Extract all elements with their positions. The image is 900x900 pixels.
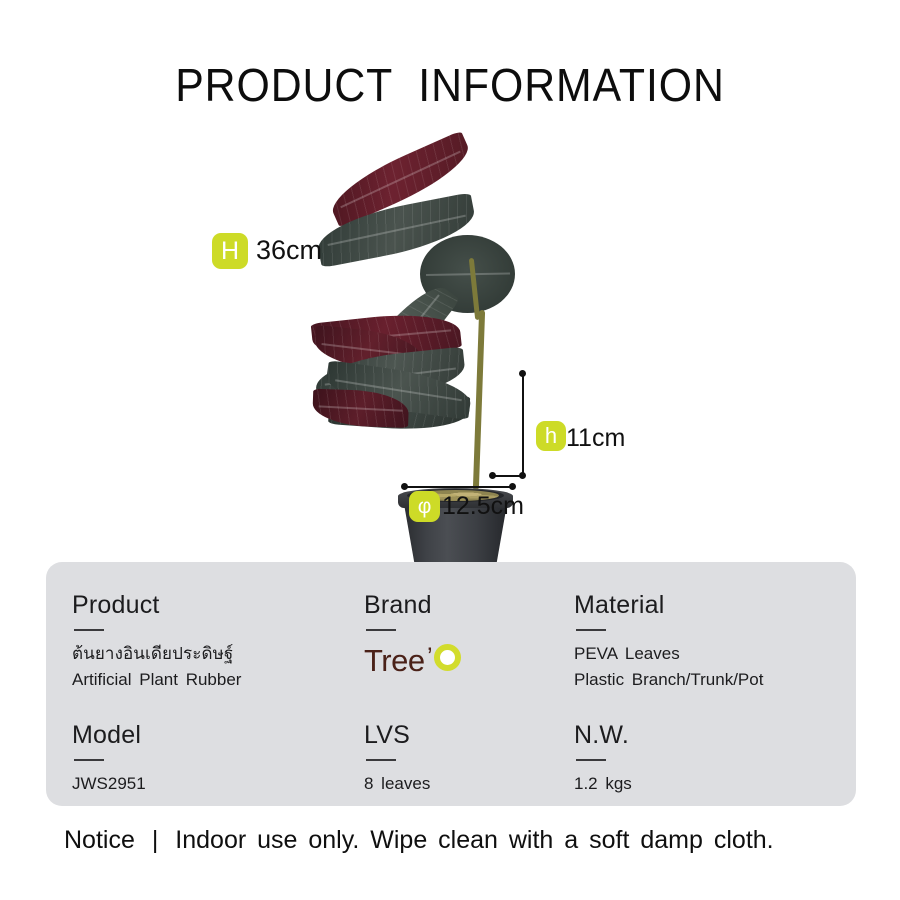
spec-nw-rule	[576, 759, 606, 762]
spec-lvs-rule	[366, 759, 396, 762]
spec-lvs-label: LVS	[364, 722, 430, 750]
pot-height-value: 11cm	[566, 424, 625, 453]
product-information-page: PRODUCT INFORMATION	[0, 0, 900, 900]
spec-product-value-en: Artificial Plant Rubber	[72, 667, 241, 693]
pot-height-dot-top	[519, 370, 526, 377]
notice-line: Notice | Indoor use only. Wipe clean wit…	[64, 826, 774, 855]
spec-material-line2: Plastic Branch/Trunk/Pot	[574, 667, 763, 693]
pot-height-tick-bottom	[492, 475, 520, 477]
height-value: 36cm	[256, 235, 322, 266]
brand-logo-text: Tree	[364, 643, 425, 679]
pot-height-dot-bottom	[519, 472, 526, 479]
notice-label: Notice	[64, 826, 135, 854]
spec-material-label: Material	[574, 592, 763, 620]
spec-lvs-value: 8 leaves	[364, 771, 430, 797]
pot-bottom-edge-dot	[489, 472, 496, 479]
spec-model-rule	[74, 759, 104, 762]
spec-model-label: Model	[72, 722, 146, 750]
pot-diameter-value: 12.5cm	[442, 492, 524, 521]
page-title: PRODUCT INFORMATION	[32, 58, 869, 112]
spec-nw: N.W. 1.2 kgs	[574, 722, 632, 797]
spec-brand: Brand Tree ’	[364, 592, 514, 681]
spec-product-value-thai: ต้นยางอินเดียประดิษฐ์	[72, 641, 241, 667]
spec-model: Model JWS2951	[72, 722, 146, 797]
spec-material-line1: PEVA Leaves	[574, 641, 763, 667]
notice-separator: |	[146, 826, 165, 854]
height-badge: H	[212, 233, 248, 269]
pot-height-dimension-line	[522, 373, 524, 476]
spec-material: Material PEVA Leaves Plastic Branch/Trun…	[574, 592, 763, 694]
product-photo	[0, 120, 900, 540]
spec-product-label: Product	[72, 592, 241, 620]
spec-brand-rule	[366, 629, 396, 632]
spec-brand-label: Brand	[364, 592, 514, 620]
brand-logo-o-icon	[434, 644, 461, 671]
spec-material-rule	[576, 629, 606, 632]
spec-nw-label: N.W.	[574, 722, 632, 750]
brand-logo-apostrophe: ’	[427, 643, 433, 672]
spec-product-rule	[74, 629, 104, 632]
pot-diameter-badge: φ	[409, 491, 440, 522]
stem-main	[473, 310, 485, 490]
spec-model-value: JWS2951	[72, 771, 146, 797]
notice-text: Indoor use only. Wipe clean with a soft …	[175, 826, 773, 854]
brand-logo: Tree ’	[364, 641, 514, 681]
specification-panel: Product ต้นยางอินเดียประดิษฐ์ Artificial…	[46, 562, 856, 806]
pot-diameter-dot-right	[509, 483, 516, 490]
spec-nw-value: 1.2 kgs	[574, 771, 632, 797]
spec-lvs: LVS 8 leaves	[364, 722, 430, 797]
pot-diameter-dimension-line	[404, 486, 512, 488]
plant-illustration	[300, 140, 630, 510]
pot-height-badge: h	[536, 421, 566, 451]
pot-diameter-dot-left	[401, 483, 408, 490]
spec-product: Product ต้นยางอินเดียประดิษฐ์ Artificial…	[72, 592, 241, 694]
